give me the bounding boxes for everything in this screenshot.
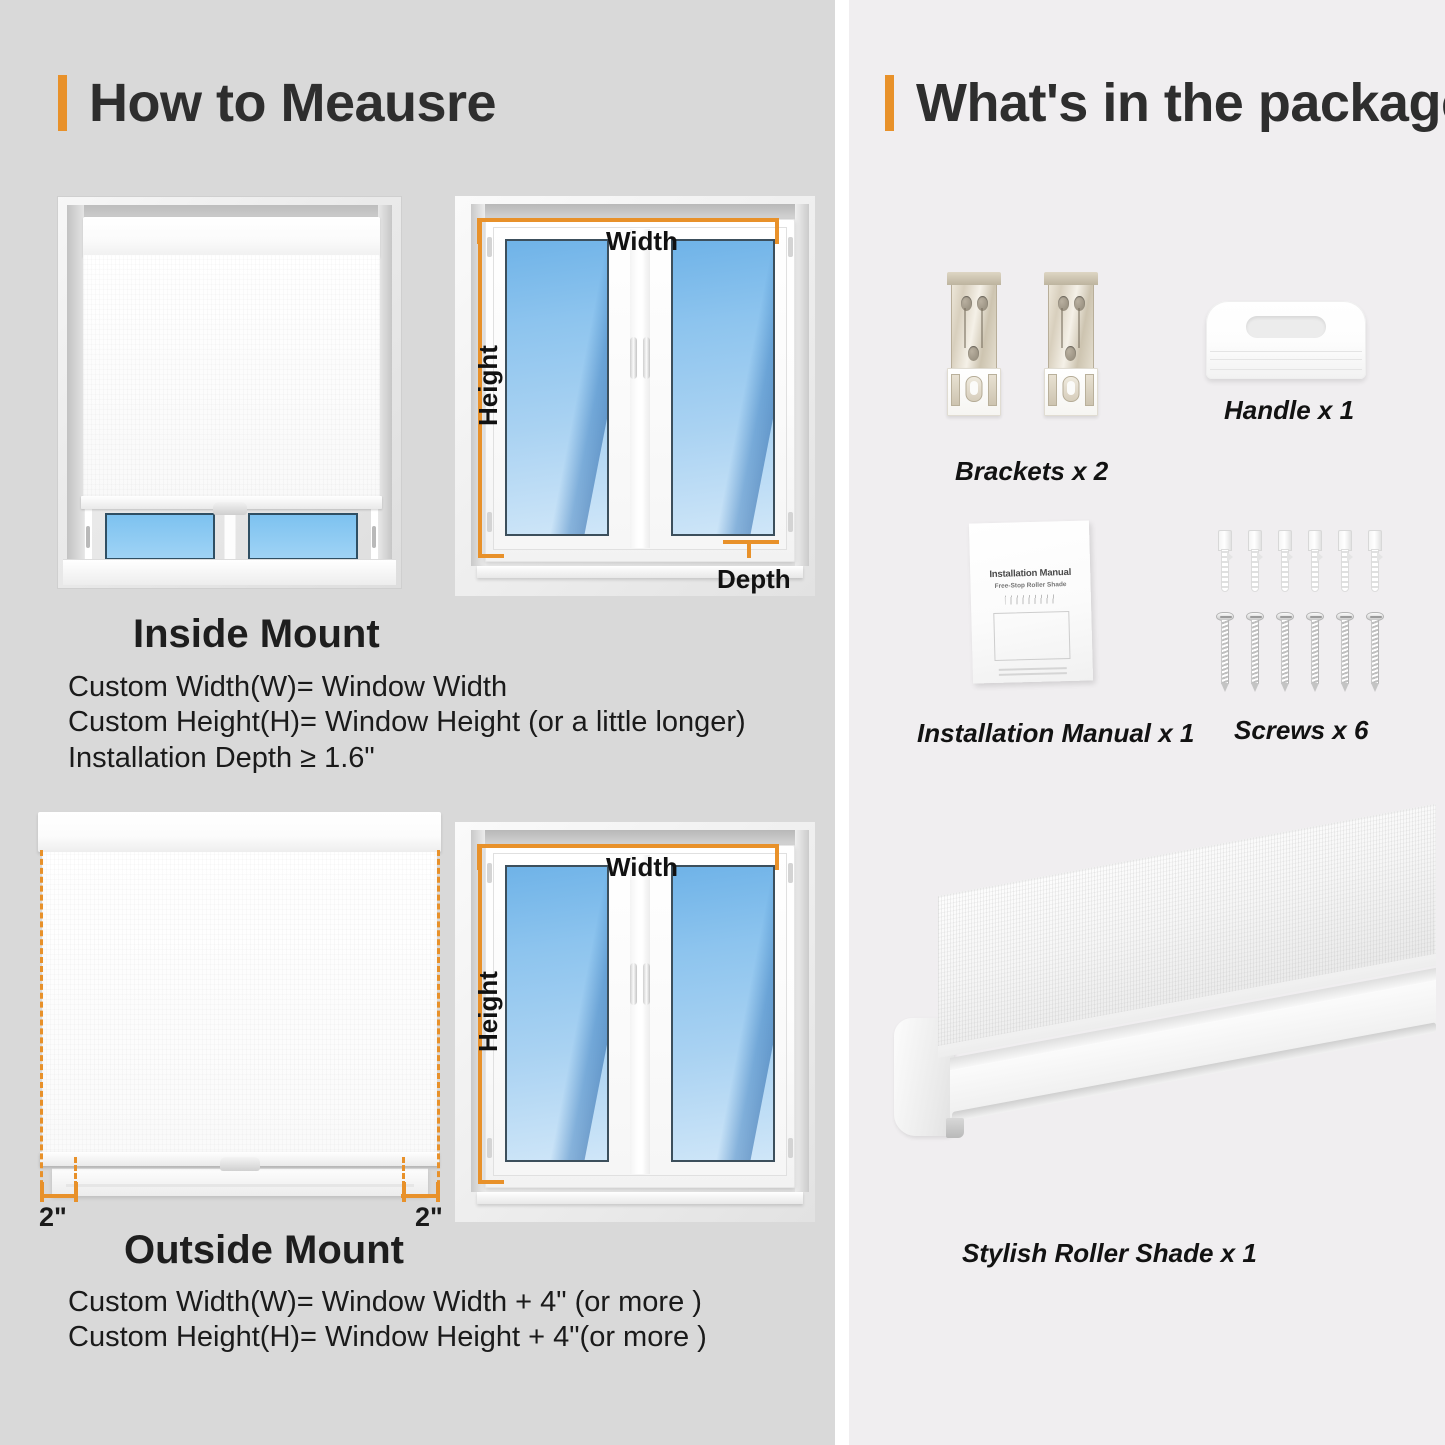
hinge-top-left [487, 237, 492, 257]
screw-slot [1370, 616, 1382, 618]
width-measure-line [477, 844, 779, 848]
bracket-rib [964, 308, 966, 348]
handle-ridge [1210, 359, 1362, 360]
window-handle-left [86, 526, 90, 548]
spec-line: Custom Width(W)= Window Width [68, 670, 746, 705]
anchor-head [1248, 530, 1262, 551]
handle-ridge [1210, 351, 1362, 352]
panel-divider [835, 0, 849, 1445]
bracket-icon [1042, 272, 1100, 422]
window-glass-right [248, 513, 358, 560]
spec-line: Custom Height(H)= Window Height (or a li… [68, 705, 746, 740]
width-label: Width [606, 852, 678, 883]
spec-line: Custom Height(H)= Window Height + 4"(or … [68, 1320, 707, 1355]
width-measure-cap-right [775, 218, 779, 244]
hinge-top-right [788, 863, 793, 883]
sash-handle-right [643, 963, 650, 1005]
glass-reflection [541, 239, 609, 536]
hinge-bottom-right [788, 512, 793, 532]
depth-label: Depth [717, 564, 791, 595]
package-contents-panel: What's in the package [849, 0, 1445, 1445]
width-label: Width [606, 226, 678, 257]
width-measure-line [477, 218, 779, 222]
anchor-barb [1347, 552, 1353, 562]
screws-label: Screws x 6 [1234, 715, 1368, 746]
depth-measure-line [723, 540, 779, 544]
screw [1246, 612, 1264, 692]
hinge-bottom-right [788, 1138, 793, 1158]
overhang-label-left: 2" [39, 1202, 67, 1233]
bracket-slot-inner [1067, 381, 1075, 395]
screw [1366, 612, 1384, 692]
accent-bar-icon [885, 75, 894, 131]
screw-shaft [1341, 620, 1349, 684]
anchor-head [1278, 530, 1292, 551]
anchor-barb [1317, 552, 1323, 562]
package-title: What's in the package [916, 72, 1445, 134]
screw-tip [1251, 683, 1259, 692]
glass-reflection [707, 865, 775, 1162]
bracket-slot-inner [970, 381, 978, 395]
outside-sill-edge [66, 1184, 414, 1187]
sash-handle-left [630, 337, 637, 379]
hinge-top-right [788, 237, 793, 257]
glass-reflection [541, 865, 609, 1162]
window-sill [63, 559, 396, 585]
height-label: Height [473, 345, 504, 426]
overhang-guide-left [40, 850, 43, 1195]
anchor-head [1218, 530, 1232, 551]
package-heading: What's in the package [885, 72, 1445, 134]
anchor-barb [1377, 552, 1383, 562]
bracket-hole [1065, 346, 1076, 361]
sash-handle-right [643, 337, 650, 379]
hinge-bottom-left [487, 1138, 492, 1158]
accent-bar-icon [58, 75, 67, 131]
screw [1216, 612, 1234, 692]
depth-measure-tick [747, 540, 751, 558]
shade-pull-handle [220, 1157, 260, 1171]
spec-line: Installation Depth ≥ 1.6" [68, 741, 746, 776]
page-title: How to Meausre [89, 72, 496, 134]
screw-tip [1311, 683, 1319, 692]
outside-mount-measure-diagram: Width Height [455, 822, 815, 1222]
anchor-head [1308, 530, 1322, 551]
window-glass-left [105, 513, 215, 560]
manual-footer-line [999, 667, 1067, 671]
height-measure-cap-top [478, 844, 504, 848]
overhang-tick-inner-left [74, 1182, 78, 1202]
anchor-head [1338, 530, 1352, 551]
screw-slot [1310, 616, 1322, 618]
glass-pane-right [671, 239, 775, 536]
outside-mount-title: Outside Mount [124, 1228, 404, 1273]
glass-pane-left [505, 865, 609, 1162]
screw-shaft [1311, 620, 1319, 684]
inside-mount-shade-illustration [57, 196, 402, 589]
bracket-top-flange [1044, 272, 1098, 285]
handle-label: Handle x 1 [1224, 395, 1354, 426]
screw-tip [1341, 683, 1349, 692]
screw-slot [1340, 616, 1352, 618]
spec-line: Custom Width(W)= Window Width + 4" (or m… [68, 1285, 707, 1320]
window-frame [485, 845, 795, 1188]
bracket-top-flange [947, 272, 1001, 285]
overhang-tick-outer-left [40, 1182, 44, 1202]
overhang-tick-inner-right [402, 1182, 406, 1202]
screw-slot [1220, 616, 1232, 618]
recess-jamb-right [795, 830, 809, 1192]
window-sill-plate [477, 1192, 803, 1204]
inside-mount-measure-diagram: Width Height Depth [455, 196, 815, 596]
wall-anchor [1277, 530, 1293, 592]
overhang-guide-right [437, 850, 440, 1195]
bracket-tab-left [1048, 374, 1057, 406]
roller-shade-label: Stylish Roller Shade x 1 [962, 1238, 1257, 1269]
wall-anchor [1247, 530, 1263, 592]
overhang-arrow-right [401, 1194, 439, 1198]
handle-grip-slot [1246, 316, 1326, 338]
installation-manual-label: Installation Manual x 1 [917, 718, 1194, 749]
bracket-icon [945, 272, 1003, 422]
outside-window-sill [52, 1168, 428, 1196]
overhang-tick-outer-right [436, 1182, 440, 1202]
bracket-tab-left [951, 374, 960, 406]
shade-fabric [42, 852, 437, 1155]
screw-slot [1280, 616, 1292, 618]
manual-footer-line [999, 672, 1067, 676]
recess-right-reveal [378, 205, 392, 567]
window-frame [485, 219, 795, 562]
screw-shaft [1251, 620, 1259, 684]
roller-shade-icon [894, 880, 1439, 1210]
bracket-rib [1078, 308, 1080, 348]
screw [1336, 612, 1354, 692]
manual-cover-scribble [1005, 594, 1057, 604]
bracket-rib [1061, 308, 1063, 348]
bracket-tab-right [988, 374, 997, 406]
shade-end-clip [946, 1118, 964, 1138]
screw-tip [1371, 683, 1379, 692]
bracket-hole [961, 296, 972, 311]
inside-mount-title: Inside Mount [133, 612, 380, 657]
screw-tip [1281, 683, 1289, 692]
sash-handle-left [630, 963, 637, 1005]
screw [1276, 612, 1294, 692]
screw-shaft [1281, 620, 1289, 684]
screw-slot [1250, 616, 1262, 618]
shade-cassette [83, 217, 380, 257]
anchor-barb [1257, 552, 1263, 562]
anchor-barb [1227, 552, 1233, 562]
hinge-top-left [487, 863, 492, 883]
hinge-bottom-left [487, 512, 492, 532]
height-label: Height [473, 971, 504, 1052]
how-to-measure-panel: How to Meausre [0, 0, 835, 1445]
screw [1306, 612, 1324, 692]
bracket-hole [968, 346, 979, 361]
handle-icon [1206, 301, 1366, 379]
wall-anchor [1307, 530, 1323, 592]
screw-shaft [1221, 620, 1229, 684]
manual-cover-subtitle: Free-Stop Roller Shade [970, 580, 1090, 590]
shade-fabric [83, 255, 380, 500]
width-measure-cap-right [775, 844, 779, 870]
bracket-tab-right [1085, 374, 1094, 406]
screw-shaft [1371, 620, 1379, 684]
how-to-measure-heading: How to Meausre [58, 72, 496, 134]
outside-mount-specs: Custom Width(W)= Window Width + 4" (or m… [68, 1285, 707, 1356]
height-measure-cap-bottom [478, 1180, 504, 1184]
recess-left-reveal [67, 205, 84, 567]
brackets-label: Brackets x 2 [955, 456, 1108, 487]
manual-icon: Installation Manual Free-Stop Roller Sha… [969, 520, 1093, 683]
window-handle-right [372, 526, 376, 548]
glass-pane-left [505, 239, 609, 536]
height-measure-cap-bottom [478, 554, 504, 558]
center-mullion [630, 855, 650, 1174]
manual-cover-title: Installation Manual [970, 566, 1090, 580]
wall-anchor [1367, 530, 1383, 592]
shade-pull-handle [213, 502, 247, 515]
handle-ridge [1210, 369, 1362, 370]
wall-anchor [1217, 530, 1233, 592]
bracket-hole [1058, 296, 1069, 311]
overhang-label-right: 2" [415, 1202, 443, 1233]
glass-reflection [707, 239, 775, 536]
shade-cassette [38, 812, 441, 852]
inside-mount-specs: Custom Width(W)= Window Width Custom Hei… [68, 670, 746, 776]
overhang-arrow-left [40, 1194, 78, 1198]
anchor-barb [1287, 552, 1293, 562]
outside-mount-shade-illustration: 2" 2" [38, 812, 441, 1212]
height-measure-cap-top [478, 218, 504, 222]
recess-jamb-right [795, 204, 809, 566]
bracket-rib [981, 308, 983, 348]
glass-pane-right [671, 865, 775, 1162]
wall-anchor [1337, 530, 1353, 592]
center-mullion [630, 229, 650, 548]
anchor-head [1368, 530, 1382, 551]
manual-cover-diagram [993, 611, 1070, 661]
infographic-page: How to Meausre [0, 0, 1445, 1445]
screw-tip [1221, 683, 1229, 692]
